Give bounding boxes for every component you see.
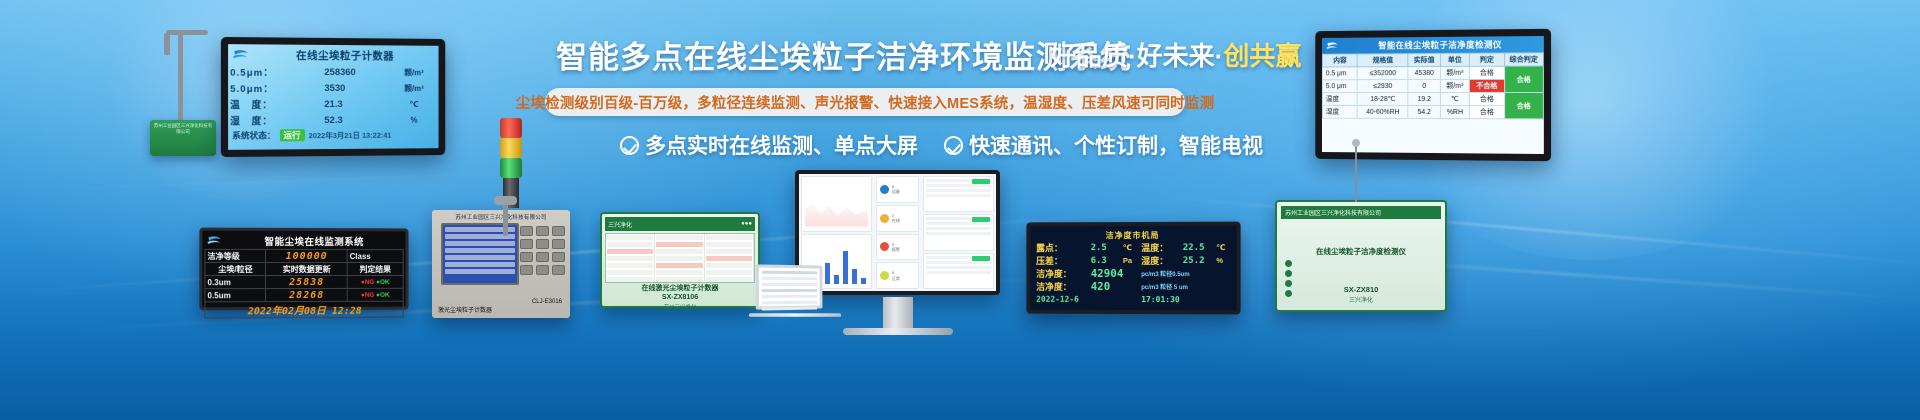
led2-r1-v2: 25.2: [1183, 254, 1217, 267]
slogan-white: 好品质·好未来·: [1050, 41, 1223, 71]
led2-r0-u2: ℃: [1216, 241, 1230, 254]
keypad-key[interactable]: [536, 252, 549, 262]
tv2-r0-verdict: 合格: [1469, 66, 1504, 79]
feature-label-2: 快速通讯、个性订制，智能电视: [969, 130, 1263, 160]
sensor-box-label: 苏州工业园区三兴净化科技有限公司: [154, 123, 213, 134]
tv2-titlebar: 智能在线尘埃粒子洁净度检测仪: [1322, 36, 1544, 54]
monitor-kpi-column: 6设备 2在线 0报警 5正常: [874, 174, 921, 291]
table-header-row: 尘埃/粒径 实时数据更新 判定结果: [205, 262, 403, 275]
tv2-r1-item: 5.0 μm: [1322, 80, 1357, 93]
kpi-card[interactable]: 0报警: [876, 234, 919, 261]
tv1-timestamp: 2022年3月21日 13:22:41: [309, 129, 392, 140]
indicator-led: [1285, 260, 1292, 267]
tv2-overall-pass-2: 合格: [1504, 92, 1543, 118]
tv2-r2-unit: ℃: [1440, 92, 1469, 105]
green-panel-strip-right: ●●●: [741, 221, 752, 227]
instrument-probe-head: [494, 196, 517, 205]
table-header-row: 内容 规格值 实际值 单位 判定 综合判定: [1322, 53, 1543, 67]
keypad-key[interactable]: [552, 226, 565, 236]
line-chart-card[interactable]: [801, 176, 872, 232]
instrument-brand: 苏州工业园区三兴净化科技有限公司: [435, 213, 567, 221]
line-chart: [805, 197, 868, 226]
led1-col-item: 尘埃/粒径: [205, 262, 266, 275]
led2-r1-k1: 压差：: [1036, 254, 1090, 267]
led2-time: 17:01:30: [1141, 293, 1230, 306]
tv2-col-3: 单位: [1440, 53, 1469, 66]
laptop: [755, 265, 840, 315]
tv1-row3-value: 52.3: [322, 112, 389, 128]
keypad-key[interactable]: [552, 252, 565, 262]
led2-clean-value-1: 42904: [1091, 267, 1142, 280]
probe-rod: [1355, 144, 1357, 202]
tv1-row0-value: 258360: [322, 64, 389, 80]
led2-r0-u1: ℃: [1123, 241, 1141, 254]
table-row: 2022-12-6 17:01:30: [1036, 293, 1230, 307]
led2-table: 露点： 2.5 ℃ 温度： 22.5 ℃ 压差： 6.3 Pa 湿度： 25.2…: [1036, 241, 1230, 307]
tv2-r3-actual: 54.2: [1408, 105, 1440, 118]
tv1-header: 在线尘埃粒子计数器: [228, 44, 438, 64]
tv2-r2-item: 温度: [1322, 93, 1357, 106]
tv2-r3-unit: %RH: [1440, 106, 1469, 119]
status-table-card[interactable]: [923, 253, 994, 289]
led2-date: 2022-12-6: [1036, 293, 1141, 306]
sensor-arm-elbow: [164, 33, 170, 55]
instrument-model: CLJ-E3016: [532, 299, 562, 305]
table-row: 湿 度： 52.3 %: [228, 112, 438, 129]
tv1-row0-unit: 颗/m³: [389, 64, 438, 80]
tv2-col-0: 内容: [1322, 54, 1357, 67]
tv2-r3-spec: 40-60%RH: [1358, 105, 1409, 118]
tv1-title: 在线尘埃粒子计数器: [254, 47, 435, 63]
kpi-card[interactable]: 6设备: [876, 176, 919, 203]
status-table-card[interactable]: [923, 214, 994, 250]
table-row: 2022年02月08日 12:28: [205, 301, 403, 318]
led1-header: 智能尘埃在线监测系统: [204, 233, 403, 250]
rdev-model: SX-ZX810: [1281, 285, 1441, 295]
tv2-screen: 智能在线尘埃粒子洁净度检测仪 内容 规格值 实际值 单位 判定 综合判定 0.5…: [1322, 36, 1544, 154]
feature-list: 多点实时在线监测、单点大屏 快速通讯、个性订制，智能电视: [620, 128, 1240, 162]
indicator-led: [1285, 270, 1292, 277]
led2-clean-unit-1: pc/m3 粒径0.5um: [1141, 267, 1230, 280]
rdev-brand: 苏州工业园区三兴净化科技有限公司: [1285, 208, 1381, 217]
led1-r0-item: 0.3um: [205, 276, 266, 289]
online-particle-counter-tv: 在线尘埃粒子计数器 0.5μm： 258360 颗/m³ 5.0μm： 3530…: [221, 37, 445, 157]
rdev-title: 在线尘埃粒子洁净度检测仪: [1281, 247, 1441, 257]
sx-logo-icon: [232, 48, 248, 61]
led2-r1-k2: 湿度：: [1141, 254, 1183, 267]
online-cleanliness-detector-device: 苏州工业园区三兴净化科技有限公司 在线尘埃粒子洁净度检测仪 SX-ZX810 三…: [1275, 200, 1447, 312]
led1-r0-ok: ●OK: [376, 278, 389, 285]
tv1-row1-value: 3530: [322, 80, 389, 96]
tv1-row2-unit: ℃: [389, 96, 438, 112]
sensor-arm-horizontal: [166, 30, 208, 35]
led2-r0-k1: 露点：: [1036, 241, 1090, 254]
table-row: 洁净等级 100000 Class: [205, 249, 403, 262]
monitor-base: [843, 328, 953, 335]
feature-item-1: 多点实时在线监测、单点大屏: [620, 130, 918, 160]
led1-date: 2022年02月08日 12:28: [205, 301, 403, 318]
led2-title: 洁净度市机局: [1036, 230, 1230, 242]
table-row: 0.3um 25838 ●NG ●OK: [205, 275, 403, 288]
keypad-key[interactable]: [536, 239, 549, 249]
green-panel-display: [605, 233, 755, 283]
keypad-key[interactable]: [520, 252, 533, 262]
sensor-box: 苏州工业园区三兴净化科技有限公司: [150, 120, 216, 156]
kpi-card[interactable]: 5正常: [876, 262, 919, 289]
rdev-brand-strip: 苏州工业园区三兴净化科技有限公司: [1281, 206, 1441, 219]
sx-logo-icon: [206, 235, 221, 247]
tower-lamp-green: [500, 158, 522, 178]
indicator-led: [1285, 280, 1292, 287]
green-panel-col: [705, 234, 754, 282]
tv2-col-4: 判定: [1469, 53, 1504, 66]
tv2-r3-verdict: 合格: [1469, 106, 1504, 119]
tv2-col-1: 规格值: [1358, 54, 1409, 67]
led2-r0-v2: 22.5: [1183, 241, 1217, 254]
led2-clean-label-1: 洁净度：: [1036, 267, 1090, 280]
led1-r1-ng: ●NG: [361, 291, 374, 298]
green-panel-model: SX-ZX8106: [605, 294, 755, 303]
cleanroom-led-display: 洁净度市机局 露点： 2.5 ℃ 温度： 22.5 ℃ 压差： 6.3 Pa 湿…: [1026, 222, 1240, 315]
led2-r1-v1: 6.3: [1091, 254, 1123, 267]
tv1-row0-label: 0.5μm：: [228, 63, 322, 80]
tv1-row3-unit: %: [389, 112, 438, 128]
led1-table: 洁净等级 100000 Class 尘埃/粒径 实时数据更新 判定结果 0.3u…: [204, 249, 403, 319]
table-row: 洁净度： 420 pc/m3 粒径 5 um: [1036, 280, 1230, 293]
green-panel-col: [606, 234, 655, 282]
green-panel-footer: 苏州三兴净化: [605, 303, 755, 311]
instrument-probe-rod: [503, 200, 508, 236]
table-row: 温 度： 21.3 ℃: [228, 96, 438, 112]
page-title: 智能多点在线尘埃粒子洁净环境监测系统: [556, 32, 1036, 77]
indicator-led: [1285, 290, 1292, 297]
led1-class-unit: Class: [347, 250, 403, 263]
tv2-r0-item: 0.5 μm: [1322, 67, 1357, 80]
green-panel-brand: 三兴净化: [608, 220, 632, 229]
monitor-table-column: [921, 174, 996, 291]
table-row: 5.0μm： 3530 颗/m³: [228, 80, 438, 96]
tv1-row1-unit: 颗/m³: [389, 80, 438, 96]
led1-r0-ng: ●NG: [361, 278, 374, 285]
keypad-key[interactable]: [520, 265, 533, 275]
tv2-r2-actual: 19.2: [1408, 92, 1440, 105]
led2-r1-u1: Pa: [1123, 254, 1141, 267]
monitor-stand: [883, 297, 913, 331]
tower-lamp-red: [500, 118, 522, 138]
status-badge: 运行: [279, 129, 304, 141]
tv2-r0-actual: 45380: [1408, 66, 1440, 79]
led1-col-value: 实时数据更新: [266, 262, 347, 275]
tv2-r0-unit: 颗/m³: [1440, 66, 1469, 79]
tv2-r0-spec: ≤352000: [1358, 67, 1409, 80]
feature-label-1: 多点实时在线监测、单点大屏: [645, 130, 918, 160]
tv1-row2-label: 温 度：: [228, 96, 322, 112]
tv2-col-5: 综合判定: [1504, 53, 1543, 66]
check-circle-icon: [620, 136, 639, 155]
slogan: 好品质·好未来·创共赢: [1050, 36, 1301, 73]
table-row: 0.5μm： 258360 颗/m³: [228, 63, 438, 80]
led1-r1-ok: ●OK: [376, 291, 389, 298]
table-row: 洁净度： 42904 pc/m3 粒径0.5um: [1036, 267, 1230, 280]
table-row: 0.5um 28268 ●NG ●OK: [205, 288, 403, 302]
green-panel-col: [655, 234, 704, 282]
tv1-screen: 在线尘埃粒子计数器 0.5μm： 258360 颗/m³ 5.0μm： 3530…: [228, 44, 438, 150]
instrument-keypad[interactable]: [520, 226, 565, 275]
tv2-overall-pass: 合格: [1504, 66, 1543, 92]
tv2-r3-item: 湿度: [1322, 105, 1357, 118]
keypad-key[interactable]: [536, 265, 549, 275]
table-row: 露点： 2.5 ℃ 温度： 22.5 ℃: [1036, 241, 1230, 254]
green-panel-strip: 三兴净化 ●●●: [605, 217, 755, 231]
status-table-card[interactable]: [923, 176, 994, 212]
led1-title: 智能尘埃在线监测系统: [226, 234, 402, 248]
check-circle-icon: [944, 136, 963, 155]
led1-class-label: 洁净等级: [205, 249, 266, 262]
feature-item-2: 快速通讯、个性订制，智能电视: [944, 130, 1263, 160]
tower-lamp-yellow: [500, 138, 522, 158]
cleanliness-detector-tv: 智能在线尘埃粒子洁净度检测仪 内容 规格值 实际值 单位 判定 综合判定 0.5…: [1315, 29, 1551, 161]
led2-clean-value-2: 420: [1091, 280, 1142, 293]
tv1-row3-label: 湿 度：: [228, 112, 322, 128]
status-badge: [972, 217, 990, 222]
kpi-card[interactable]: 2在线: [876, 205, 919, 232]
tv2-r1-verdict: 不合格: [1469, 79, 1504, 92]
tv2-r2-verdict: 合格: [1469, 92, 1504, 105]
led1-class-value: 100000: [266, 249, 347, 262]
led1-r0-value: 25838: [266, 275, 347, 288]
table-row: 0.5 μm ≤352000 45380 颗/m³ 合格 合格: [1322, 66, 1543, 80]
led1-r1-value: 28268: [266, 288, 347, 301]
tv1-readings-table: 0.5μm： 258360 颗/m³ 5.0μm： 3530 颗/m³ 温 度：…: [228, 63, 438, 128]
rdev-indicator-lights: [1285, 260, 1292, 297]
tv1-status-label: 系统状态：: [232, 129, 275, 141]
keypad-key[interactable]: [552, 239, 565, 249]
tv2-results-table: 内容 规格值 实际值 单位 判定 综合判定 0.5 μm ≤352000 453…: [1322, 52, 1544, 119]
sensor-arm-vertical: [178, 30, 183, 125]
led1-col-verdict: 判定结果: [347, 263, 403, 276]
keypad-key[interactable]: [536, 226, 549, 236]
instrument-label: 激光尘埃粒子计数器: [438, 305, 492, 314]
laptop-screen: [756, 264, 823, 309]
tv2-r2-spec: 18-28℃: [1358, 93, 1409, 106]
led2-clean-label-2: 洁净度：: [1036, 280, 1090, 293]
led2-r0-v1: 2.5: [1091, 241, 1123, 254]
led2-clean-unit-2: pc/m3 粒径 5 um: [1141, 280, 1230, 293]
rdev-logo: 三兴净化: [1281, 295, 1441, 304]
led1-r1-item: 0.5um: [205, 289, 266, 302]
tv2-col-2: 实际值: [1408, 53, 1440, 66]
status-badge: [972, 179, 990, 184]
status-badge: [972, 256, 990, 261]
tv2-r1-spec: ≤2930: [1358, 80, 1409, 93]
led2-r0-k2: 温度：: [1141, 241, 1183, 254]
subtitle-banner: 尘埃检测级别百级-百万级，多粒径连续监测、声光报警、快速接入MES系统，温湿度、…: [545, 88, 1185, 116]
slogan-yellow: 创共赢: [1223, 41, 1301, 71]
led2-r1-u2: %: [1216, 254, 1230, 267]
laser-particle-counter-instrument: 苏州工业园区三兴净化科技有限公司 CLJ-E3016 激光尘埃粒子计数器: [432, 210, 570, 318]
sx-logo-icon: [1326, 40, 1338, 51]
tv2-r1-unit: 颗/m³: [1440, 79, 1469, 92]
tv2-r1-actual: 0: [1408, 79, 1440, 92]
tv2-title: 智能在线尘埃粒子洁净度检测仪: [1342, 38, 1540, 52]
laptop-base: [749, 313, 842, 316]
subtitle-text: 尘埃检测级别百级-百万级，多粒径连续监测、声光报警、快速接入MES系统，温湿度、…: [516, 92, 1215, 113]
table-row: 压差： 6.3 Pa 湿度： 25.2 %: [1036, 254, 1230, 267]
tv1-row2-value: 21.3: [322, 96, 389, 112]
led-monitoring-board: 智能尘埃在线监测系统 洁净等级 100000 Class 尘埃/粒径 实时数据更…: [199, 228, 408, 311]
keypad-key[interactable]: [552, 265, 565, 275]
table-row: 温度 18-28℃ 19.2 ℃ 合格 合格: [1322, 92, 1543, 105]
keypad-key[interactable]: [520, 239, 533, 249]
green-panel-title: 在线激光尘埃粒子计数器: [605, 285, 755, 294]
keypad-key[interactable]: [520, 226, 533, 236]
green-particle-counter-panel: 三兴净化 ●●● 在线激光尘埃粒子计数器 SX-ZX8106 苏州三兴净化: [600, 212, 760, 308]
tv1-row1-label: 5.0μm：: [228, 80, 322, 96]
tv1-status-bar: 系统状态： 运行 2022年3月21日 13:22:41: [228, 128, 438, 143]
